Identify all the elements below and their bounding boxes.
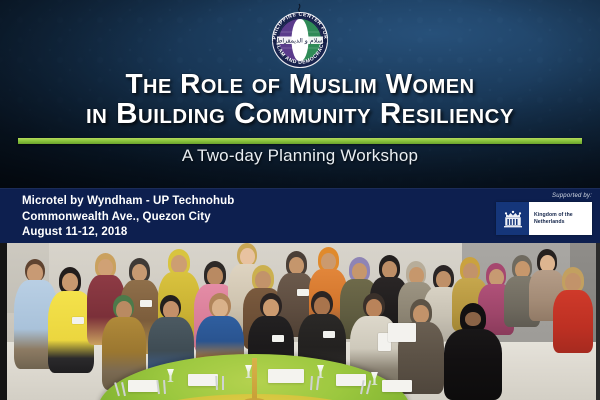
- participant: [444, 303, 502, 400]
- photo-right-border: [596, 243, 600, 400]
- photo-left-border: [0, 243, 7, 400]
- title-line-2: in Building Community Resiliency: [0, 100, 600, 129]
- table-setting: [128, 380, 158, 392]
- crown-lions-crest-icon: [501, 208, 525, 230]
- candle-holder: [252, 358, 257, 400]
- venue-line-2: Commonwealth Ave., Quezon City: [22, 210, 234, 226]
- venue-details: Microtel by Wyndham - UP Technohub Commo…: [22, 194, 234, 241]
- table-setting: [382, 380, 412, 392]
- pcid-seal-icon: PHILIPPINE CENTER FOR ISLAM AND DEMOCRAC…: [264, 2, 336, 70]
- table-setting: [188, 374, 218, 386]
- cutlery: [222, 376, 224, 390]
- participant: [553, 267, 593, 353]
- marawi-sign: [388, 323, 416, 342]
- organization-logo: PHILIPPINE CENTER FOR ISLAM AND DEMOCRAC…: [264, 2, 336, 70]
- venue-line-1: Microtel by Wyndham - UP Technohub: [22, 194, 234, 210]
- event-poster: PHILIPPINE CENTER FOR ISLAM AND DEMOCRAC…: [0, 0, 600, 400]
- poster-subtitle: A Two-day Planning Workshop: [0, 146, 600, 166]
- netherlands-logo: Kingdom of the Netherlands: [496, 202, 592, 235]
- title-accent-rule: [18, 138, 582, 144]
- netherlands-crest-icon: [496, 202, 529, 235]
- svg-text:الإسلام و الديمقراطية: الإسلام و الديمقراطية: [272, 38, 328, 45]
- netherlands-text-line-1: Kingdom of the: [534, 212, 573, 218]
- netherlands-text-line-2: Netherlands: [534, 219, 565, 225]
- title-line-1: The Role of Muslim Women: [0, 70, 600, 100]
- supported-by-label: Supported by:: [496, 193, 592, 199]
- event-info-bar: Microtel by Wyndham - UP Technohub Commo…: [0, 188, 600, 243]
- event-date: August 11-12, 2018: [22, 225, 234, 241]
- workshop-group-photo: [0, 243, 600, 400]
- table-setting: [268, 369, 304, 383]
- poster-banner: PHILIPPINE CENTER FOR ISLAM AND DEMOCRAC…: [0, 0, 600, 188]
- poster-title: The Role of Muslim Women in Building Com…: [0, 70, 600, 129]
- netherlands-logo-text: Kingdom of the Netherlands: [529, 202, 592, 235]
